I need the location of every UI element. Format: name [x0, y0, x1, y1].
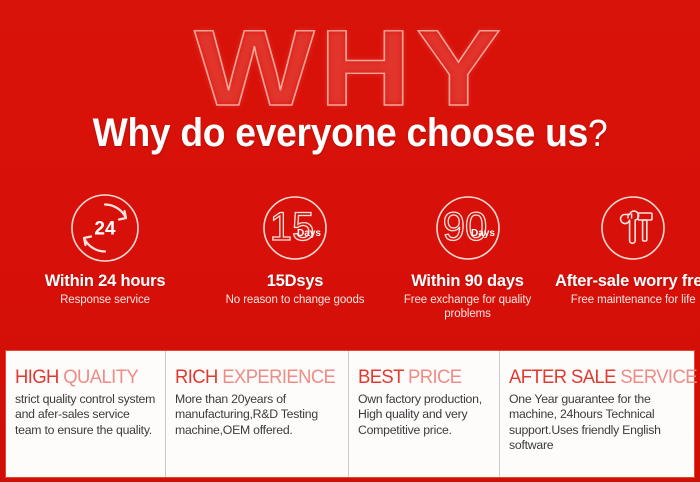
feature-title: 15Dsys	[267, 272, 324, 291]
benefit-heading-strong: HIGH	[15, 367, 59, 388]
icon-unit-days: Days	[471, 228, 495, 239]
wrench-hammer-tools-icon	[595, 190, 671, 266]
benefit-heading-light: SERVICE	[620, 367, 697, 388]
icon-number-24: 24	[94, 219, 116, 240]
feature-subtitle: Free maintenance for life	[571, 294, 696, 308]
benefit-heading-light: EXPERIENCE	[222, 367, 335, 388]
benefit-heading-light: QUALITY	[63, 367, 138, 388]
benefit-heading-strong: AFTER SALE	[509, 367, 616, 388]
benefit-body: strict quality control system and afer-s…	[15, 392, 157, 438]
clock-24-hours-icon: 24	[67, 190, 143, 266]
90-days-icon: 90 Days	[430, 190, 506, 266]
feature-item: 15 Days 15Dsys No reason to change goods	[210, 190, 380, 321]
benefit-body: More than 20years of manufacturing,R&D T…	[175, 392, 340, 438]
icon-unit-days: Days	[297, 228, 321, 239]
feature-subtitle: Free exchange for quality problems	[385, 294, 550, 321]
headline-text: Why do everyone choose us	[93, 111, 588, 155]
benefit-heading-light: PRICE	[408, 367, 461, 388]
benefit-body: Own factory production, High quality and…	[358, 392, 492, 438]
benefit-body: One Year guarantee for the machine, 24ho…	[509, 392, 700, 454]
benefit-heading-strong: RICH	[175, 367, 218, 388]
benefit-column: AFTER SALE SERVICE One Year guarantee fo…	[500, 351, 700, 477]
benefits-panel: HIGH QUALITY strict quality control syst…	[5, 350, 695, 478]
feature-item: After-sale worry free Free maintenance f…	[555, 190, 700, 321]
feature-title: Within 24 hours	[45, 272, 166, 291]
feature-item: 90 Days Within 90 days Free exchange for…	[380, 190, 555, 321]
benefit-heading: RICH EXPERIENCE	[175, 367, 337, 388]
benefit-column: HIGH QUALITY strict quality control syst…	[6, 351, 166, 477]
benefit-heading: HIGH QUALITY	[15, 367, 154, 388]
benefit-heading-strong: BEST	[358, 367, 403, 388]
page-title: Why do everyone choose us?	[25, 110, 676, 157]
feature-title: Within 90 days	[411, 272, 524, 291]
ghost-why-title: WHY	[0, 14, 700, 122]
benefit-heading: AFTER SALE SERVICE	[509, 367, 697, 388]
feature-title: After-sale worry free	[555, 272, 700, 291]
feature-subtitle: Response service	[60, 294, 150, 308]
benefit-heading: BEST PRICE	[358, 367, 489, 388]
headline-question-mark: ?	[588, 113, 607, 155]
features-row: 24 Within 24 hours Response service 15 D…	[0, 190, 700, 321]
feature-item: 24 Within 24 hours Response service	[0, 190, 210, 321]
benefit-column: BEST PRICE Own factory production, High …	[349, 351, 500, 477]
benefit-column: RICH EXPERIENCE More than 20years of man…	[166, 351, 349, 477]
feature-subtitle: No reason to change goods	[226, 294, 365, 308]
icon-number-90: 90	[442, 205, 487, 249]
icon-number-15: 15	[270, 205, 315, 249]
15-days-icon: 15 Days	[257, 190, 333, 266]
promo-banner: WHY Why do everyone choose us? 24 Within…	[0, 0, 700, 482]
